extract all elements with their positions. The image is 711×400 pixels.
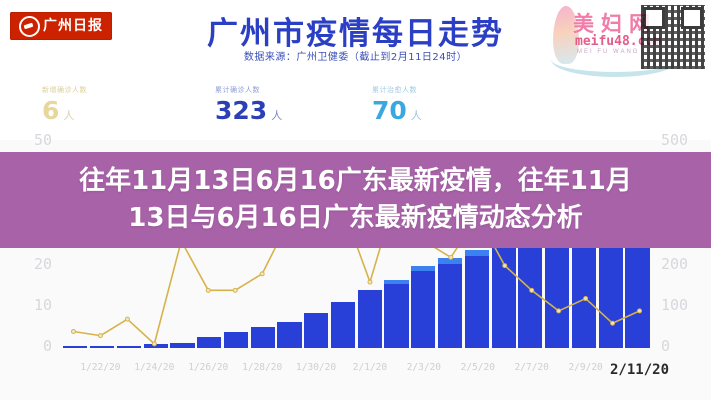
stat-total-confirmed: 累计确诊人数 323 人 — [215, 85, 282, 123]
x-tick-1/30/20: 1/30/20 — [296, 362, 336, 373]
line-point — [557, 309, 561, 313]
line-point — [503, 264, 507, 268]
headline-overlay-text: 往年11月13日6月16广东最新疫情，往年11月 13日与6月16日广东最新疫情… — [26, 163, 686, 237]
x-tick-1/28/20: 1/28/20 — [242, 362, 282, 373]
y-tick-left-20: 20 — [34, 257, 52, 272]
stat-new-confirmed-unit: 人 — [63, 107, 74, 123]
line-point — [71, 330, 75, 334]
qr-code-icon — [641, 5, 705, 69]
headline-overlay-band: 往年11月13日6月16广东最新疫情，往年11月 13日与6月16日广东最新疫情… — [0, 152, 711, 248]
headline-line-1: 往年11月13日6月16广东最新疫情，往年11月 — [26, 163, 686, 200]
x-axis-labels: 1/22/201/24/201/26/201/28/201/30/202/1/2… — [60, 362, 653, 382]
stat-total-cured: 累计治愈人数 70 人 — [372, 85, 422, 123]
x-tick-2/1/20: 2/1/20 — [353, 362, 387, 373]
y-tick-left-0: 0 — [43, 339, 52, 354]
y-tick-left-50: 50 — [34, 133, 52, 148]
line-point — [638, 309, 642, 313]
stat-total-cured-unit: 人 — [411, 107, 422, 123]
y-tick-left-10: 10 — [34, 298, 52, 313]
line-point — [584, 297, 588, 301]
x-tick-2/11/20: 2/11/20 — [610, 362, 669, 378]
x-tick-2/3/20: 2/3/20 — [407, 362, 441, 373]
line-point — [233, 288, 237, 292]
y-tick-right-0: 0 — [661, 339, 670, 354]
headline-line-2: 13日与6月16日广东最新疫情动态分析 — [26, 200, 686, 237]
y-tick-right-100: 100 — [661, 298, 688, 313]
line-point — [368, 280, 372, 284]
stat-total-confirmed-label: 累计确诊人数 — [215, 85, 282, 95]
x-tick-2/9/20: 2/9/20 — [568, 362, 602, 373]
stat-new-confirmed-value: 6 — [42, 98, 59, 123]
stat-new-confirmed-label: 新增确诊人数 — [42, 85, 87, 95]
x-tick-1/24/20: 1/24/20 — [134, 362, 174, 373]
stat-new-confirmed: 新增确诊人数 6 人 — [42, 85, 87, 123]
line-point — [98, 334, 102, 338]
line-point — [449, 255, 453, 259]
watermark-subtext: MEI FU WANG — [577, 49, 639, 55]
y-tick-right-200: 200 — [661, 257, 688, 272]
x-tick-1/26/20: 1/26/20 — [188, 362, 228, 373]
infographic-screenshot: 广州日报 广州市疫情每日走势 数据来源：广州卫健委（截止到2月11日24时） 美… — [0, 0, 711, 400]
line-point — [206, 288, 210, 292]
stat-total-confirmed-value: 323 — [215, 98, 267, 123]
summary-stats: 新增确诊人数 6 人 累计确诊人数 323 人 累计治愈人数 70 人 — [0, 85, 711, 140]
line-point — [611, 321, 615, 325]
line-point — [125, 317, 129, 321]
x-tick-2/5/20: 2/5/20 — [461, 362, 495, 373]
y-tick-right-500: 500 — [661, 133, 688, 148]
stat-total-confirmed-unit: 人 — [271, 107, 282, 123]
line-point — [260, 272, 264, 276]
stat-total-cured-label: 累计治愈人数 — [372, 85, 422, 95]
line-point — [530, 288, 534, 292]
watermark: 美妇网 meifu48.com MEI FU WANG — [539, 2, 705, 74]
line-point — [152, 342, 156, 346]
x-tick-2/7/20: 2/7/20 — [515, 362, 549, 373]
stat-total-cured-value: 70 — [372, 98, 407, 123]
x-tick-1/22/20: 1/22/20 — [80, 362, 120, 373]
